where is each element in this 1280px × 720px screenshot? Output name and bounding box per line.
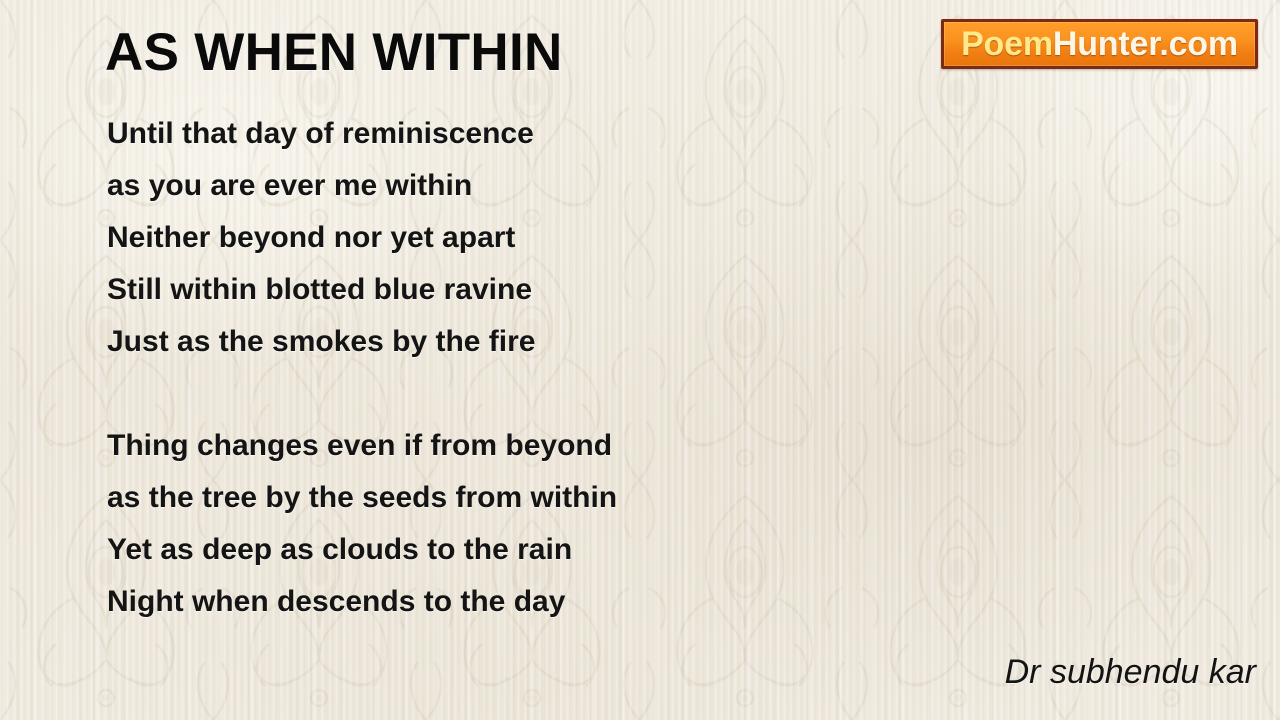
poem-line: Still within blotted blue ravine [107,264,807,316]
poem-line: Yet as deep as clouds to the rain [107,524,807,576]
logo-text-poem: Poem [961,25,1053,63]
logo-text: PoemHunter.com [961,27,1238,61]
stanza-break [107,368,807,420]
poem-card: AS WHEN WITHIN Until that day of reminis… [0,0,1280,720]
page-title: AS WHEN WITHIN [105,22,563,83]
poem-line: Until that day of reminiscence [107,108,807,160]
poem-line: Just as the smokes by the fire [107,316,807,368]
logo-text-hunter: Hunter.com [1053,25,1238,63]
poem-line: as the tree by the seeds from within [107,472,807,524]
poem-body: Until that day of reminiscence as you ar… [107,108,807,628]
poem-line: Night when descends to the day [107,576,807,628]
poem-author: Dr subhendu kar [1005,653,1256,692]
poemhunter-logo[interactable]: PoemHunter.com [941,19,1258,69]
poem-line: Thing changes even if from beyond [107,420,807,472]
poem-line: Neither beyond nor yet apart [107,212,807,264]
poem-line: as you are ever me within [107,160,807,212]
